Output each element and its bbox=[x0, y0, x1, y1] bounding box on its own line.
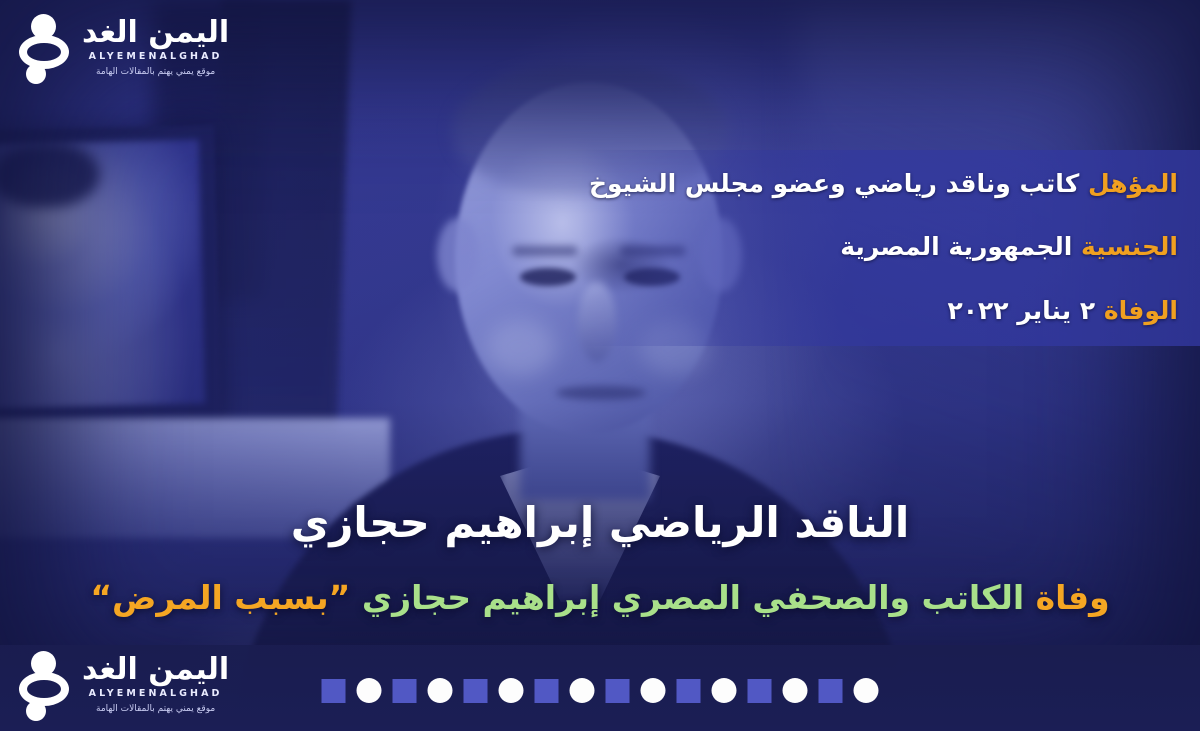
logo-ring-icon bbox=[19, 672, 69, 706]
decor-circle bbox=[357, 678, 382, 703]
logo-text-block: اليمن الغد ALYEMENALGHAD موقع يمني يهتم … bbox=[82, 654, 229, 715]
logo-text-block: اليمن الغد ALYEMENALGHAD موقع يمني يهتم … bbox=[82, 17, 229, 78]
news-card: اليمن الغد ALYEMENALGHAD موقع يمني يهتم … bbox=[0, 0, 1200, 731]
logo-top-left[interactable]: اليمن الغد ALYEMENALGHAD موقع يمني يهتم … bbox=[14, 14, 229, 80]
info-label-nationality: الجنسية bbox=[1081, 232, 1178, 261]
decor-square bbox=[606, 679, 630, 703]
decor-square bbox=[393, 679, 417, 703]
info-value-qualification: كاتب وناقد رياضي وعضو مجلس الشيوخ bbox=[589, 169, 1079, 198]
logo-arabic-wordmark: اليمن الغد bbox=[82, 17, 229, 49]
subheadline: وفاة الكاتب والصحفي المصري إبراهيم حجازي… bbox=[0, 578, 1200, 617]
subheadline-body: الكاتب والصحفي المصري إبراهيم حجازي bbox=[362, 578, 1024, 617]
decor-square bbox=[322, 679, 346, 703]
logo-monogram-icon bbox=[14, 651, 72, 717]
info-row: المؤهل كاتب وناقد رياضي وعضو مجلس الشيوخ bbox=[606, 168, 1178, 199]
logo-latin-wordmark: ALYEMENALGHAD bbox=[89, 688, 223, 699]
decor-square bbox=[819, 679, 843, 703]
decor-circle bbox=[499, 678, 524, 703]
logo-tagline: موقع يمني يهتم بالمقالات الهامة bbox=[96, 704, 215, 714]
info-value-nationality: الجمهورية المصرية bbox=[840, 232, 1072, 261]
info-value-death: ٢ يناير ٢٠٢٢ bbox=[947, 296, 1095, 325]
logo-latin-wordmark: ALYEMENALGHAD bbox=[89, 51, 223, 62]
logo-monogram-icon bbox=[14, 14, 72, 80]
decor-circle bbox=[854, 678, 879, 703]
decor-square bbox=[535, 679, 559, 703]
logo-bottom-left[interactable]: اليمن الغد ALYEMENALGHAD موقع يمني يهتم … bbox=[14, 651, 229, 717]
info-label-qualification: المؤهل bbox=[1088, 169, 1178, 198]
decor-square bbox=[464, 679, 488, 703]
info-row: الوفاة ٢ يناير ٢٠٢٢ bbox=[606, 295, 1178, 326]
info-panel: المؤهل كاتب وناقد رياضي وعضو مجلس الشيوخ… bbox=[580, 150, 1200, 346]
logo-ring-icon bbox=[19, 35, 69, 69]
background-photo bbox=[0, 0, 1200, 731]
decorative-dot-strip bbox=[322, 678, 879, 703]
decor-circle bbox=[428, 678, 453, 703]
logo-dot-bottom-icon bbox=[26, 701, 46, 721]
headline: الناقد الرياضي إبراهيم حجازي bbox=[0, 498, 1200, 547]
decor-square bbox=[677, 679, 701, 703]
decor-square bbox=[748, 679, 772, 703]
decor-circle bbox=[712, 678, 737, 703]
logo-dot-bottom-icon bbox=[26, 64, 46, 84]
decor-circle bbox=[641, 678, 666, 703]
info-row: الجنسية الجمهورية المصرية bbox=[606, 231, 1178, 262]
info-label-death: الوفاة bbox=[1104, 296, 1178, 325]
subheadline-lead: وفاة bbox=[1036, 578, 1110, 617]
logo-tagline: موقع يمني يهتم بالمقالات الهامة bbox=[96, 67, 215, 77]
decor-circle bbox=[570, 678, 595, 703]
decor-circle bbox=[783, 678, 808, 703]
logo-arabic-wordmark: اليمن الغد bbox=[82, 654, 229, 686]
vignette-overlay bbox=[0, 0, 1200, 731]
subheadline-quote: ”بسبب المرض“ bbox=[90, 578, 350, 617]
